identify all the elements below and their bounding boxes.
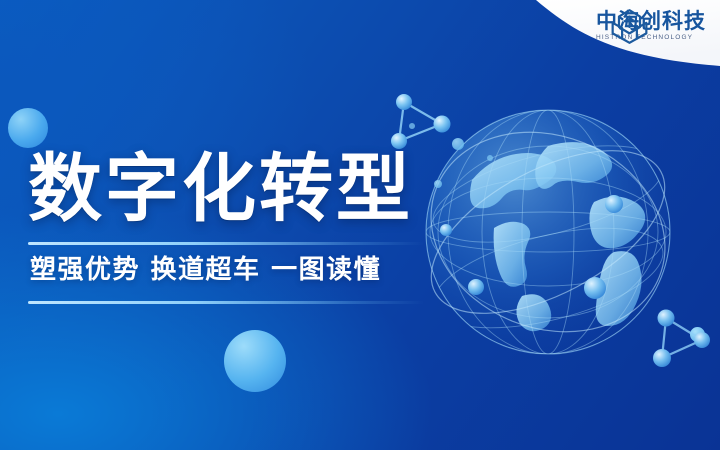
banner-title: 数字化转型: [28, 150, 448, 230]
decor-dot-small-c: [487, 155, 493, 161]
decor-circle-large-left: [8, 108, 48, 148]
decor-circle-large-bottom: [224, 330, 286, 392]
banner-canvas: 中海创科技 HISTRON TECHNOLOGY 数字化转型 塑强优势 换道超车…: [0, 0, 720, 450]
headline-block: 数字化转型 塑强优势 换道超车 一图读懂: [28, 150, 448, 304]
decor-dot-small-a: [452, 138, 464, 150]
banner-subtitle: 塑强优势 换道超车 一图读懂: [28, 245, 448, 290]
logo-corner-panel: 中海创科技 HISTRON TECHNOLOGY: [490, 0, 720, 78]
company-logo[interactable]: 中海创科技 HISTRON TECHNOLOGY: [553, 6, 706, 46]
histron-cube-logo-icon: [553, 9, 589, 43]
network-nodes-bottom-right: [640, 292, 720, 384]
decor-dot-small-d: [690, 327, 705, 342]
decor-dot-small-e: [409, 123, 415, 129]
divider-bottom: [28, 301, 424, 304]
